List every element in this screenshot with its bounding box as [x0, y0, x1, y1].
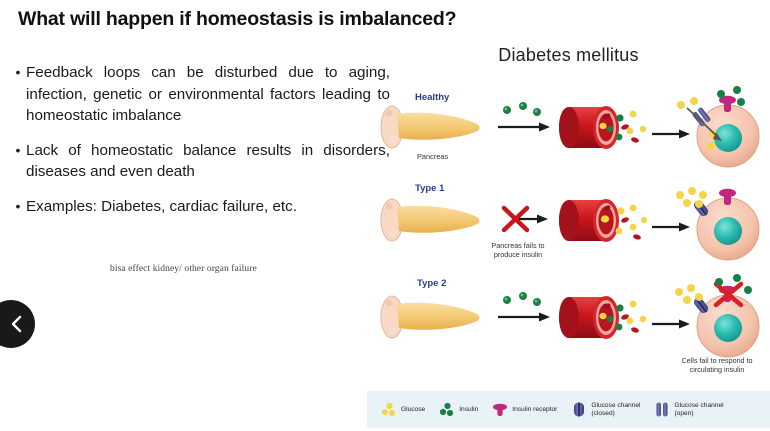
legend-label: Glucose — [401, 406, 425, 414]
arrow-icon — [498, 313, 550, 322]
glucose-channel-open-icon — [654, 401, 670, 418]
handwritten-annotation: bisa effect kidney/ other organ failure — [110, 264, 257, 274]
legend-item-glucose: Glucose — [381, 402, 425, 418]
type1-pathway-graphic — [367, 175, 770, 271]
figure-title: Diabetes mellitus — [367, 45, 770, 66]
legend-item-insulin-receptor: Insulin receptor — [492, 402, 557, 418]
list-item: • Lack of homeostatic balance results in… — [10, 140, 390, 183]
glucose-channel-closed-icon — [571, 401, 587, 418]
bullet-marker: • — [10, 196, 26, 217]
blood-vessel-graphic — [559, 199, 619, 242]
slide-canvas: What will happen if homeostasis is imbal… — [0, 0, 770, 431]
insulin-receptor-icon — [492, 402, 508, 418]
pancreas-graphic — [381, 296, 480, 338]
arrow-icon — [652, 130, 690, 139]
insulin-icon — [439, 402, 455, 418]
legend-label-line1: Glucose — [401, 406, 425, 413]
legend-label: Insulin receptor — [512, 406, 557, 414]
arrow-icon — [498, 123, 550, 132]
figure-row-healthy: Healthy Pancreas — [367, 82, 770, 178]
legend-item-insulin: Insulin — [439, 402, 478, 418]
healthy-pathway-graphic — [367, 82, 770, 178]
legend-label: Insulin — [459, 406, 478, 414]
legend-label-line1: Glucose channel — [591, 402, 640, 409]
blood-vessel-graphic — [559, 106, 619, 149]
arrow-icon — [652, 223, 690, 232]
arrow-icon — [652, 320, 690, 329]
page-title: What will happen if homeostasis is imbal… — [18, 8, 618, 31]
list-item: • Examples: Diabetes, cardiac failure, e… — [10, 196, 390, 218]
diabetes-figure: Diabetes mellitus Healthy Pancreas — [367, 40, 770, 431]
legend-item-glucose-channel-open: Glucose channel (open) — [654, 401, 723, 418]
figure-row-type2: Type 2 Cells fail to respond to circulat… — [367, 272, 770, 368]
legend-label-line1: Glucose channel — [674, 402, 723, 409]
pancreas-graphic — [381, 199, 480, 241]
chevron-left-icon — [9, 314, 23, 334]
bloodstream-molecules — [616, 301, 647, 334]
pancreas-graphic — [381, 106, 480, 148]
insulin-molecules — [503, 292, 541, 306]
figure-legend: Glucose Insulin Insulin — [367, 391, 770, 428]
legend-label: Glucose channel (open) — [674, 402, 723, 418]
figure-row-type1: Type 1 Pancreas fails to produce insulin — [367, 175, 770, 271]
bloodstream-molecules — [616, 205, 648, 241]
bullet-text: Examples: Diabetes, cardiac failure, etc… — [26, 196, 390, 218]
list-item: • Feedback loops can be disturbed due to… — [10, 62, 390, 127]
bullet-marker: • — [10, 140, 26, 161]
target-cell-graphic — [677, 86, 759, 167]
previous-slide-button[interactable] — [0, 300, 35, 348]
legend-label-line1: Insulin — [459, 406, 478, 413]
bloodstream-molecules — [616, 111, 647, 144]
bullet-text: Lack of homeostatic balance results in d… — [26, 140, 390, 183]
legend-label-line1: Insulin receptor — [512, 406, 557, 413]
legend-item-glucose-channel-closed: Glucose channel (closed) — [571, 401, 640, 418]
target-cell-graphic — [675, 274, 759, 357]
legend-label-line2: (closed) — [591, 410, 640, 418]
insulin-molecules — [503, 102, 541, 116]
blocked-arrow-icon — [504, 208, 548, 230]
legend-label-line2: (open) — [674, 410, 723, 418]
bullet-list: • Feedback loops can be disturbed due to… — [10, 62, 390, 230]
target-cell-graphic — [676, 187, 759, 260]
bullet-marker: • — [10, 62, 26, 83]
glucose-icon — [381, 402, 397, 418]
type2-pathway-graphic — [367, 272, 770, 382]
blood-vessel-graphic — [559, 296, 619, 339]
legend-label: Glucose channel (closed) — [591, 402, 640, 418]
bullet-text: Feedback loops can be disturbed due to a… — [26, 62, 390, 127]
